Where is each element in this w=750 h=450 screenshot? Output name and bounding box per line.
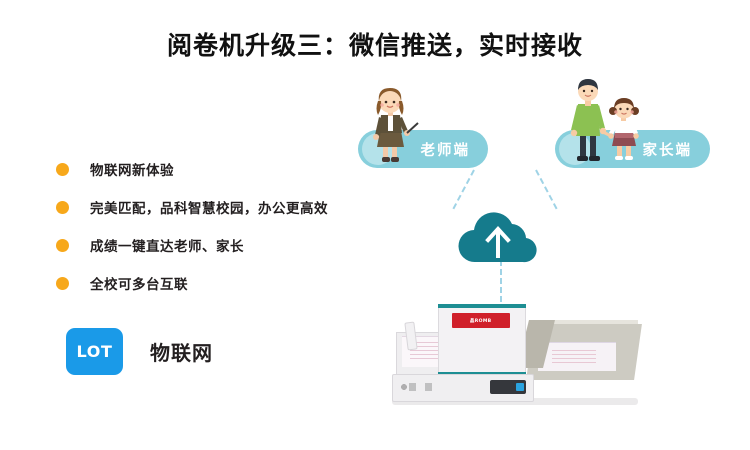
bullet-dot-icon — [56, 239, 69, 252]
feature-list: 物联网新体验 完美匹配，品科智慧校园，办公更高效 成绩一键直达老师、家长 全校可… — [56, 152, 356, 304]
machine-accent-bar-top — [438, 304, 526, 308]
feature-label: 成绩一键直达老师、家长 — [90, 235, 244, 255]
list-item: 成绩一键直达老师、家长 — [56, 228, 356, 262]
parent-child-figure-icon — [558, 78, 646, 166]
omr-scanner-machine: 晶ROMB — [392, 302, 638, 407]
bullet-dot-icon — [56, 201, 69, 214]
machine-brand-text: 晶ROMB — [470, 317, 492, 323]
connector-line-parent — [535, 170, 557, 210]
machine-paper-guide-left — [404, 321, 417, 350]
bullet-dot-icon — [56, 277, 69, 290]
machine-output-sheets — [538, 342, 616, 371]
cloud-upload-icon — [455, 206, 545, 268]
feature-label: 完美匹配，品科智慧校园，办公更高效 — [90, 197, 328, 217]
page-title: 阅卷机升级三：微信推送，实时接收 — [0, 26, 750, 62]
teacher-figure-icon — [360, 85, 420, 163]
list-item: 全校可多台互联 — [56, 266, 356, 300]
feature-label: 物联网新体验 — [90, 159, 174, 179]
node-parent-label: 家长端 — [643, 139, 693, 160]
iot-badge-text: LOT — [77, 342, 113, 361]
iot-block: LOT 物联网 — [66, 328, 213, 375]
feature-label: 全校可多台互联 — [90, 273, 188, 293]
list-item: 物联网新体验 — [56, 152, 356, 186]
bullet-dot-icon — [56, 163, 69, 176]
iot-badge: LOT — [66, 328, 123, 375]
iot-label: 物联网 — [150, 337, 213, 366]
machine-brand-label: 晶ROMB — [452, 313, 510, 328]
machine-base-logo-icon — [400, 383, 436, 391]
list-item: 完美匹配，品科智慧校园，办公更高效 — [56, 190, 356, 224]
node-teacher-label: 老师端 — [421, 139, 471, 160]
machine-panel-screen — [516, 383, 524, 391]
connector-line-teacher — [452, 170, 474, 210]
